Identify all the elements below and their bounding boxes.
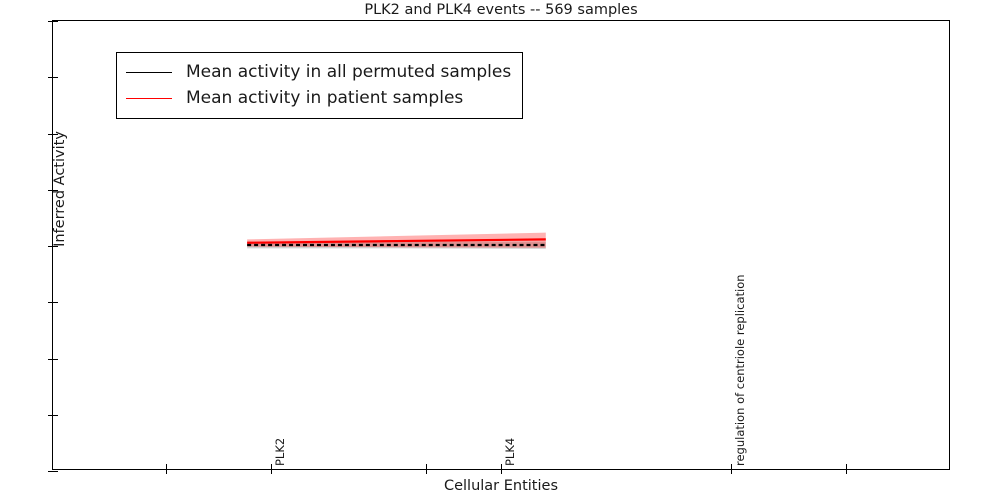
y-axis-label: Inferred Activity [52,69,68,309]
legend-entry-permuted: Mean activity in all permuted samples [126,59,511,85]
xtick-mark-inner-6 [846,464,847,469]
xtick-mark-3 [426,469,427,474]
plot-area: 4 3 2 1 0 −1 −2 −3 −4 Inferred Activity … [52,20,950,470]
xtick-mark-inner-4 [501,464,502,469]
legend-swatch-patient [126,98,172,99]
xtick-label-regulation-of-centriole-replication: regulation of centriole replication [735,274,746,466]
chart-title: PLK2 and PLK4 events -- 569 samples [52,1,950,19]
xtick-mark-inner-2 [271,464,272,469]
xtick-mark-5 [731,469,732,474]
xtick-mark-2 [271,469,272,474]
xtick-label-plk2: PLK2 [275,438,286,466]
x-axis-label: Cellular Entities [52,478,950,494]
ytick-mark-inner-neg3 [53,415,58,416]
ytick-mark-inner-neg2 [53,359,58,360]
xtick-mark-inner-1 [166,464,167,469]
legend: Mean activity in all permuted samples Me… [116,52,523,119]
legend-label-patient: Mean activity in patient samples [186,90,463,107]
legend-swatch-permuted [126,72,172,73]
chart-figure: PLK2 and PLK4 events -- 569 samples [0,0,1000,500]
legend-entry-patient: Mean activity in patient samples [126,85,511,111]
xtick-mark-inner-3 [426,464,427,469]
ytick-mark-inner-neg4 [53,471,58,472]
legend-label-permuted: Mean activity in all permuted samples [186,64,511,81]
xtick-mark-4 [501,469,502,474]
ytick-mark-inner-4 [53,21,58,22]
xtick-mark-1 [166,469,167,474]
xtick-label-plk4: PLK4 [505,438,516,466]
xtick-mark-6 [846,469,847,474]
xtick-mark-inner-5 [731,464,732,469]
